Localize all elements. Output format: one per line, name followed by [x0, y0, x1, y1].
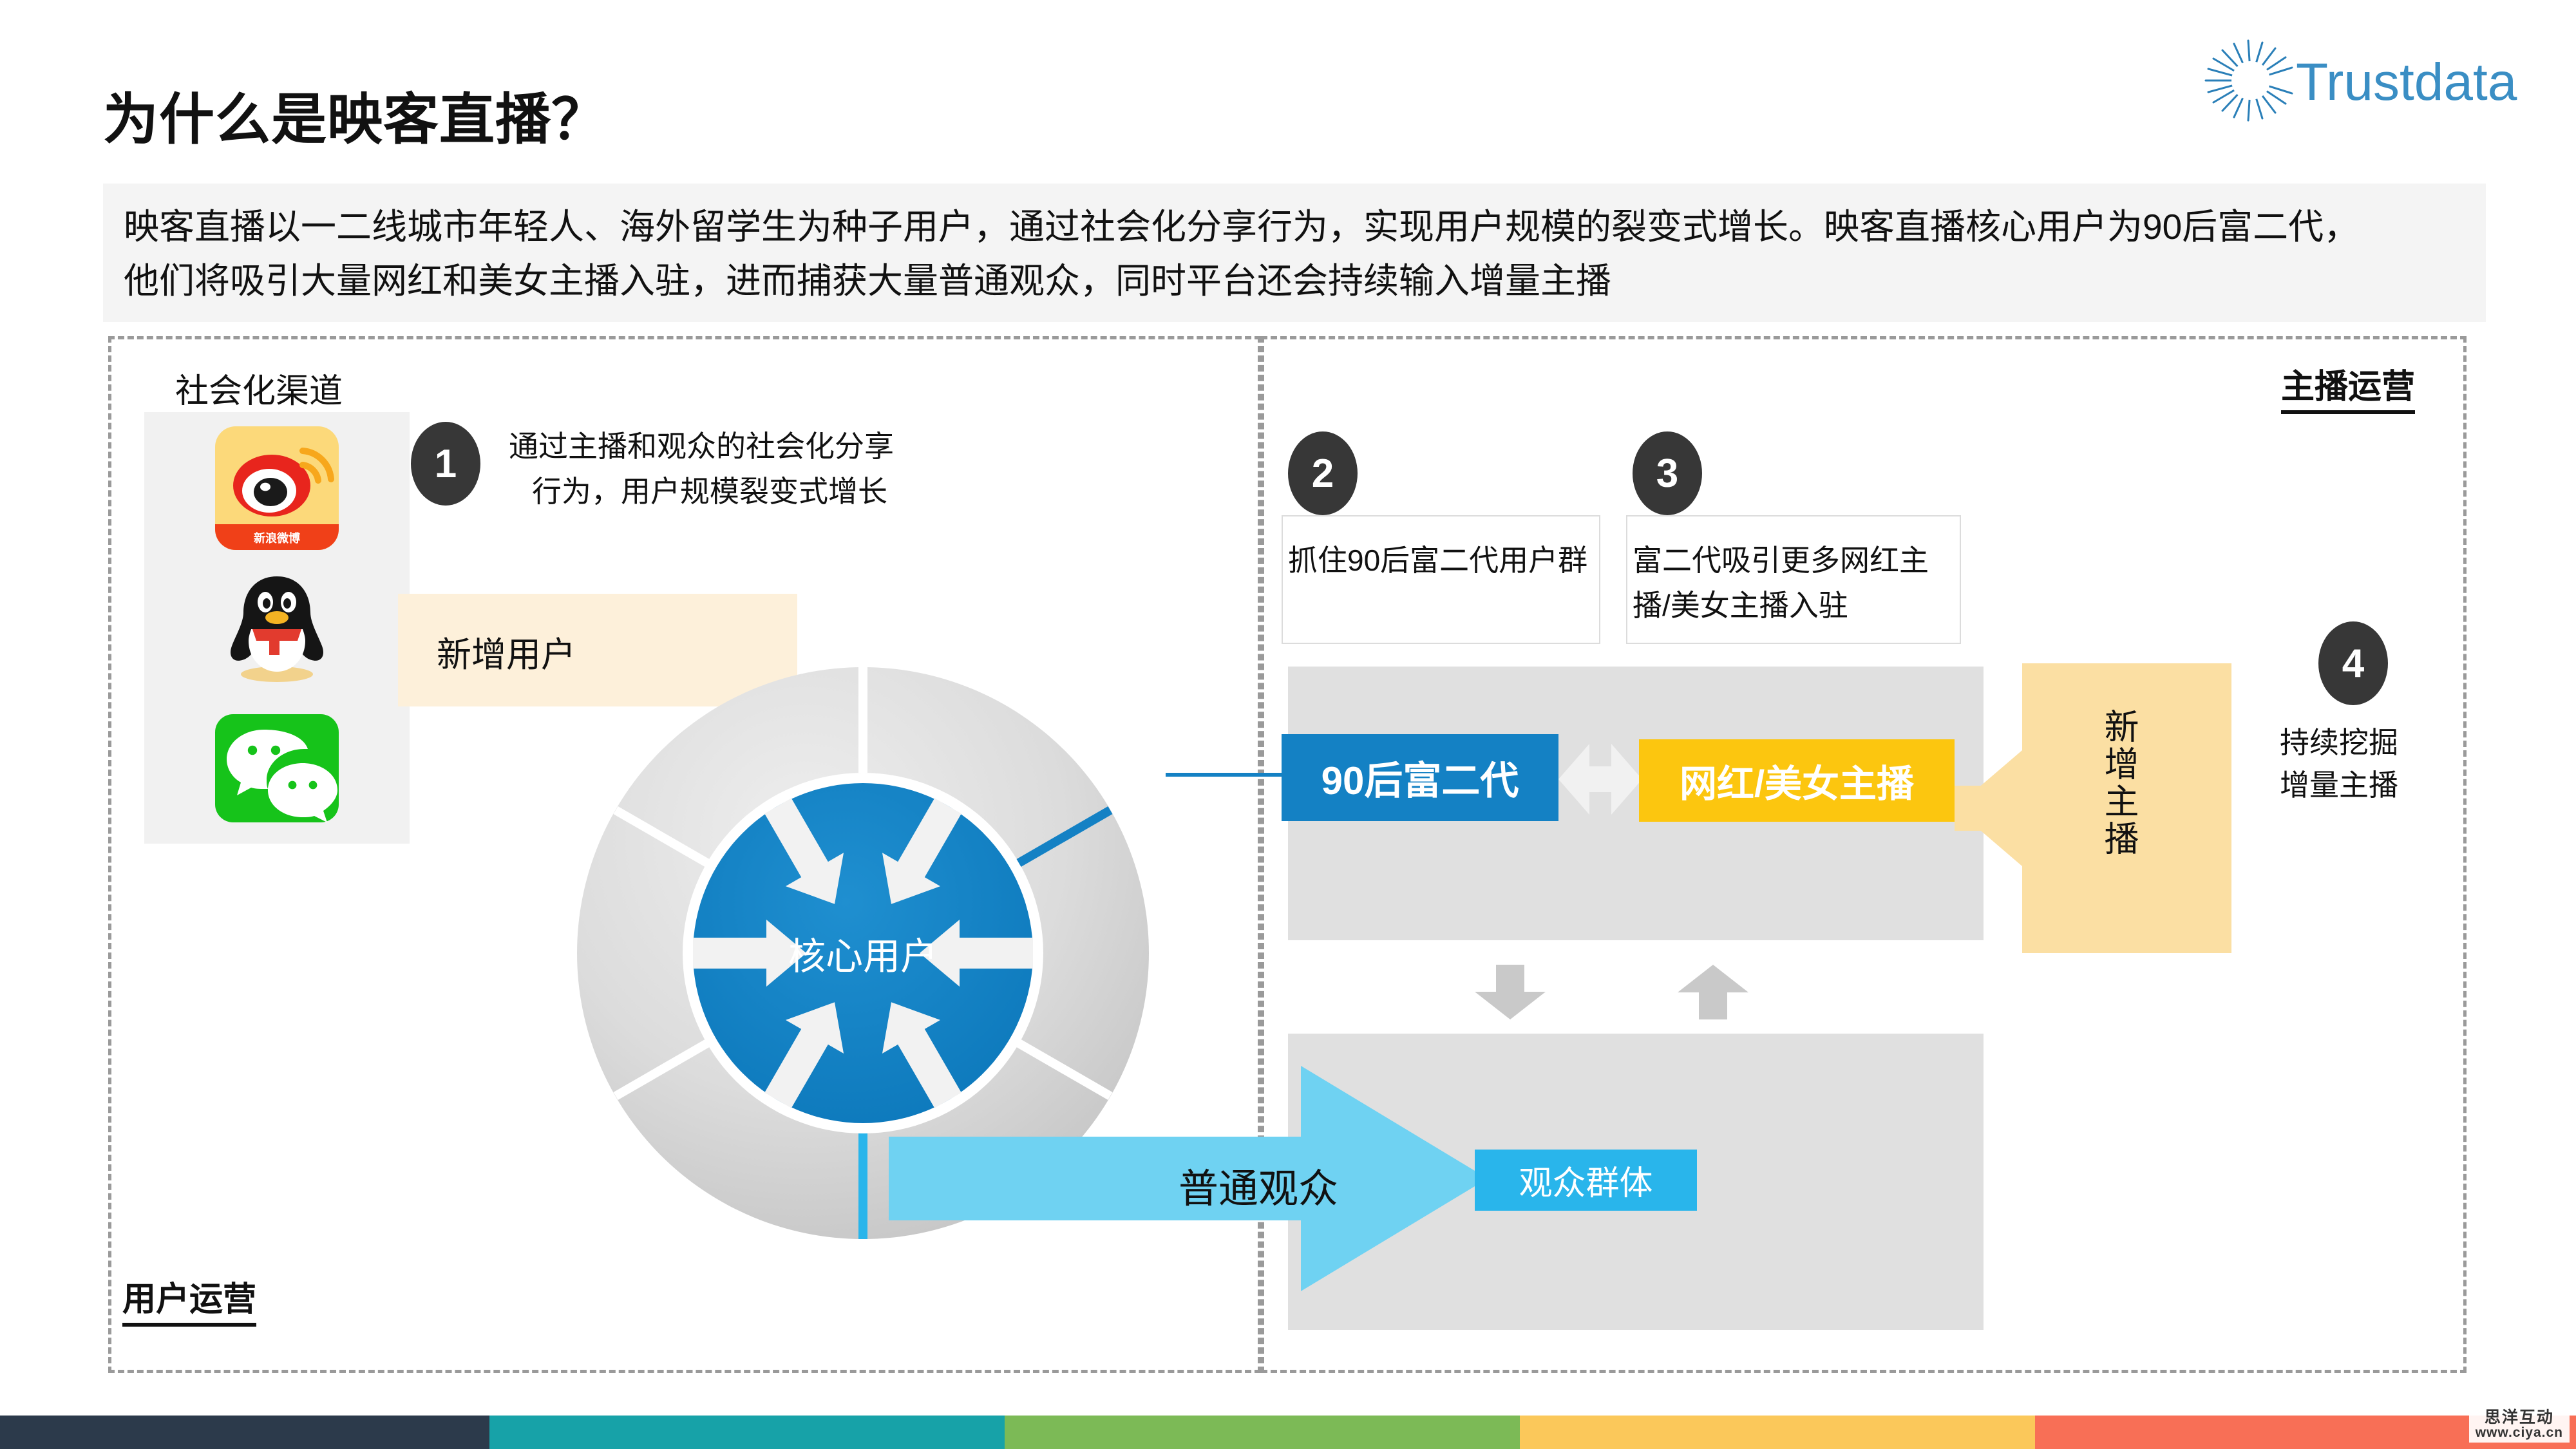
subtitle-line-2: 他们将吸引大量网红和美女主播入驻，进而捕获大量普通观众，同时平台还会持续输入增量… [124, 256, 1611, 306]
step-text-4-line1: 持续挖掘 [2280, 721, 2524, 764]
subtitle-band: 映客直播以一二线城市年轻人、海外留学生为种子用户，通过社会化分享行为，实现用户规… [103, 184, 2486, 322]
social-channel-title: 社会化渠道 [175, 364, 343, 412]
new-anchor-label: 新增主播 [2093, 708, 2138, 858]
donut-to-box-connector [1166, 773, 1294, 777]
panel-label-user-operations: 用户运营 [122, 1272, 256, 1327]
step-text-1: 通过主播和观众的社会化分享 行为，用户规模裂变式增长 [509, 424, 894, 514]
page-title: 为什么是映客直播？ [103, 74, 607, 155]
step-badge-1: 1 [411, 422, 480, 506]
subtitle-line-1: 映客直播以一二线城市年轻人、海外留学生为种子用户，通过社会化分享行为，实现用户规… [124, 202, 2359, 252]
bar-segment-2 [1005, 1416, 1520, 1449]
watermark-url: www.ciya.cn [2476, 1426, 2563, 1440]
svg-text:新浪微博: 新浪微博 [254, 531, 300, 545]
watermark-cn: 思洋互动 [2476, 1409, 2563, 1426]
panel-label-anchor-operations: 主播运营 [2281, 359, 2415, 414]
step-text-2: 抓住90后富二代用户群 [1288, 538, 1597, 583]
box-net-celebrity-anchors: 网红/美女主播 [1639, 739, 1955, 822]
step-badge-2: 2 [1288, 431, 1358, 515]
audience-flow-label: 普通观众 [1179, 1156, 1338, 1214]
trustdata-logo: Trustdata [2193, 35, 2528, 126]
bar-segment-0 [0, 1416, 489, 1449]
social-icon-strip: 新浪微博 [144, 412, 410, 844]
slide-root: 为什么是映客直播？ [0, 0, 2576, 1449]
step-badge-3: 3 [1633, 431, 1702, 515]
step-text-4: 持续挖掘 增量主播 [2280, 721, 2524, 806]
weibo-icon: 新浪微博 [213, 424, 341, 553]
bar-segment-3 [1520, 1416, 2035, 1449]
step-text-1-line2: 行为，用户规模裂变式增长 [509, 469, 894, 514]
bottom-color-bar [0, 1416, 2576, 1449]
arrow-down-icon [1472, 965, 1549, 1019]
qq-icon [213, 563, 341, 692]
svg-text:Trustdata: Trustdata [2296, 53, 2517, 111]
step-text-4-line2: 增量主播 [2280, 764, 2524, 806]
watermark: 思洋互动 www.ciya.cn [2469, 1406, 2570, 1443]
arrow-up-icon [1674, 965, 1752, 1019]
step-text-1-line1: 通过主播和观众的社会化分享 [509, 424, 894, 469]
bidirectional-arrow-icon [1558, 731, 1642, 828]
wechat-icon [213, 704, 341, 833]
box-rich-second-generation: 90后富二代 [1282, 734, 1558, 821]
bar-segment-1 [489, 1416, 1005, 1449]
step-text-3: 富二代吸引更多网红主播/美女主播入驻 [1633, 538, 1955, 628]
box-audience-group: 观众群体 [1475, 1150, 1697, 1211]
step-badge-4: 4 [2318, 621, 2388, 705]
